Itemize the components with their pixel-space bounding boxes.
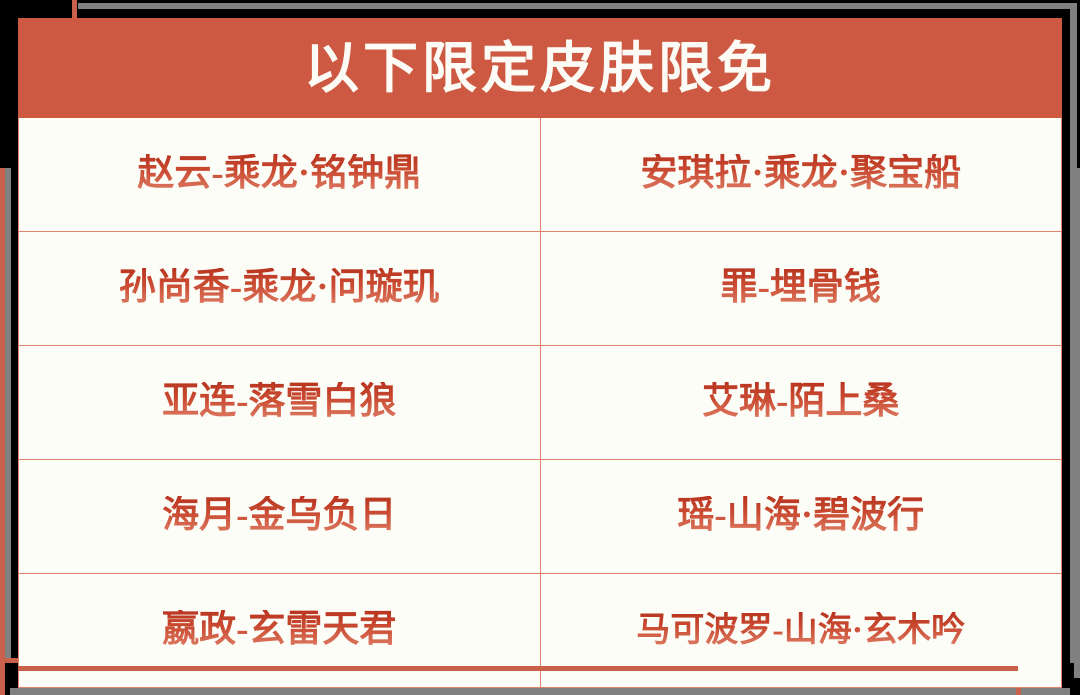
skin-name: 罪-埋骨钱 [721,268,881,309]
skin-name: 孙尚香-乘龙·问璇玑 [119,268,440,309]
skin-name: 海月-金乌负日 [162,496,396,537]
free-skin-table-body: 赵云-乘龙·铭钟鼎 安琪拉·乘龙·聚宝船 孙尚香-乘龙·问璇玑 罪-埋骨钱 [19,118,1062,688]
frame-top-gray-rule [78,3,1074,9]
skin-name: 艾琳-陌上桑 [702,382,899,423]
poster-title-band: 以下限定皮肤限免 [18,18,1062,118]
skin-name: 马可波罗-山海·玄木吟 [636,612,965,649]
frame-left-gray-rule [5,168,11,662]
table-row: 海月-金乌负日 瑶-山海·碧波行 [19,460,1062,574]
frame-bottom-gray-rule [10,688,1070,695]
table-cell-skin: 海月-金乌负日 [19,460,541,574]
table-row: 孙尚香-乘龙·问璇玑 罪-埋骨钱 [19,232,1062,346]
table-cell-skin: 瑶-山海·碧波行 [540,460,1062,574]
skin-name: 瑶-山海·碧波行 [677,496,924,537]
skin-list-card: 以下限定皮肤限免 赵云-乘龙·铭钟鼎 安琪拉·乘龙·聚宝船 孙尚香-乘龙·问璇玑 [18,18,1062,672]
table-cell-skin: 艾琳-陌上桑 [540,346,1062,460]
skin-name: 安琪拉·乘龙·聚宝船 [640,154,961,195]
table-row: 亚连-落雪白狼 艾琳-陌上桑 [19,346,1062,460]
table-cell-skin: 亚连-落雪白狼 [19,346,541,460]
table-cell-skin: 赵云-乘龙·铭钟鼎 [19,118,541,232]
table-row: 赵云-乘龙·铭钟鼎 安琪拉·乘龙·聚宝船 [19,118,1062,232]
page-title: 以下限定皮肤限免 [304,41,776,96]
promo-poster: 以下限定皮肤限免 赵云-乘龙·铭钟鼎 安琪拉·乘龙·聚宝船 孙尚香-乘龙·问璇玑 [0,0,1080,695]
table-cell-skin: 孙尚香-乘龙·问璇玑 [19,232,541,346]
table-cell-skin: 安琪拉·乘龙·聚宝船 [540,118,1062,232]
skin-name: 赵云-乘龙·铭钟鼎 [137,154,421,195]
skin-name: 亚连-落雪白狼 [162,382,396,423]
table-cell-skin: 罪-埋骨钱 [540,232,1062,346]
free-skin-table: 赵云-乘龙·铭钟鼎 安琪拉·乘龙·聚宝船 孙尚香-乘龙·问璇玑 罪-埋骨钱 [18,118,1062,688]
card-bottom-orange-rule [18,666,1018,671]
frame-top-left-orange-tick [72,0,77,20]
skin-name: 嬴政-玄雷天君 [162,610,396,651]
frame-right-gray-rule-inner [1074,168,1080,678]
